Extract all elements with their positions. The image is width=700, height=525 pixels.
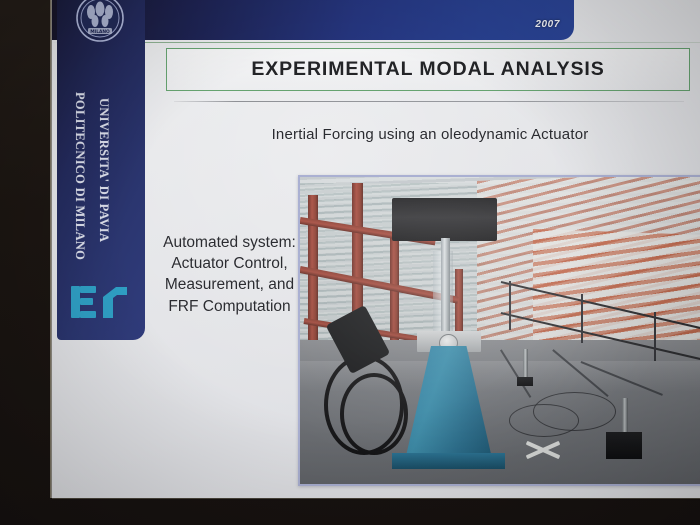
year-label: 2007 [535, 19, 560, 30]
institution-sidebar: MILANO POLITECNICO DI MILANO UNIVERSITA'… [57, 0, 145, 340]
photo-cable-loop-2 [533, 392, 615, 431]
slide-body-text: Automated system: Actuator Control, Meas… [157, 232, 302, 317]
slide-title-box: EXPERIMENTAL MODAL ANALYSIS [166, 48, 690, 91]
presentation-slide: 2007 MILANO POLITECNICO DI MILANO UN [52, 0, 700, 498]
university-seal-icon: MILANO [68, 0, 132, 48]
svg-text:MILANO: MILANO [90, 29, 110, 35]
photo-actuator-rod [441, 238, 450, 336]
photo-sensor-stem-2 [622, 398, 628, 435]
header-green-divider [52, 42, 700, 43]
photo-sensor-base-2 [606, 432, 642, 460]
institution-name-pavia: UNIVERSITA' DI PAVIA [96, 98, 111, 242]
photo-sensor-stem-1 [523, 349, 528, 380]
photo-rail-post-2 [581, 294, 583, 343]
photo-actuator-plinth [392, 453, 505, 468]
institution-names: POLITECNICO DI MILANO UNIVERSITA' DI PAV… [57, 92, 145, 302]
photo-content [300, 177, 700, 484]
title-underline-rule [174, 101, 684, 102]
eucentre-logo-icon [69, 278, 135, 326]
photo-sensor-base-1 [517, 377, 533, 386]
photo-actuator-inertial-mass [392, 198, 497, 241]
photo-floor-x-marker [525, 441, 561, 456]
institution-name-polimi: POLITECNICO DI MILANO [72, 92, 87, 260]
page-title: EXPERIMENTAL MODAL ANALYSIS [167, 58, 689, 81]
photo-rail-post-3 [654, 312, 656, 361]
slide-subtitle: Inertial Forcing using an oleodynamic Ac… [172, 126, 688, 143]
stadium-actuator-photo [298, 175, 700, 486]
photo-rail-post-1 [509, 281, 511, 330]
